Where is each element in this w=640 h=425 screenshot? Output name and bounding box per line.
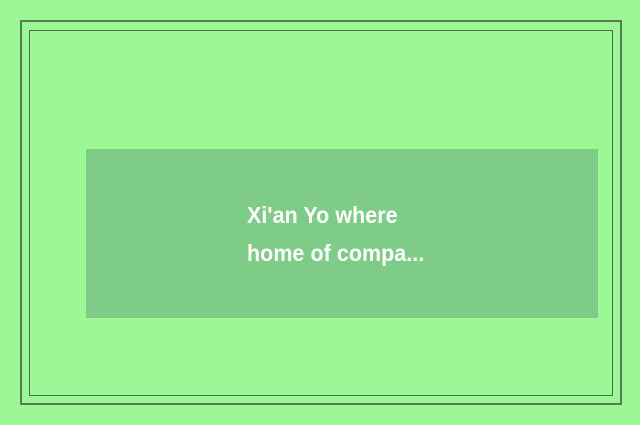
caption-panel: Xi'an Yo where home of compa... bbox=[86, 149, 598, 318]
caption-line-1: Xi'an Yo where bbox=[247, 196, 424, 234]
card-outer-frame: Xi'an Yo where home of compa... bbox=[20, 20, 622, 405]
caption-text-block: Xi'an Yo where home of compa... bbox=[247, 196, 438, 272]
caption-line-2: home of compa... bbox=[247, 234, 424, 272]
